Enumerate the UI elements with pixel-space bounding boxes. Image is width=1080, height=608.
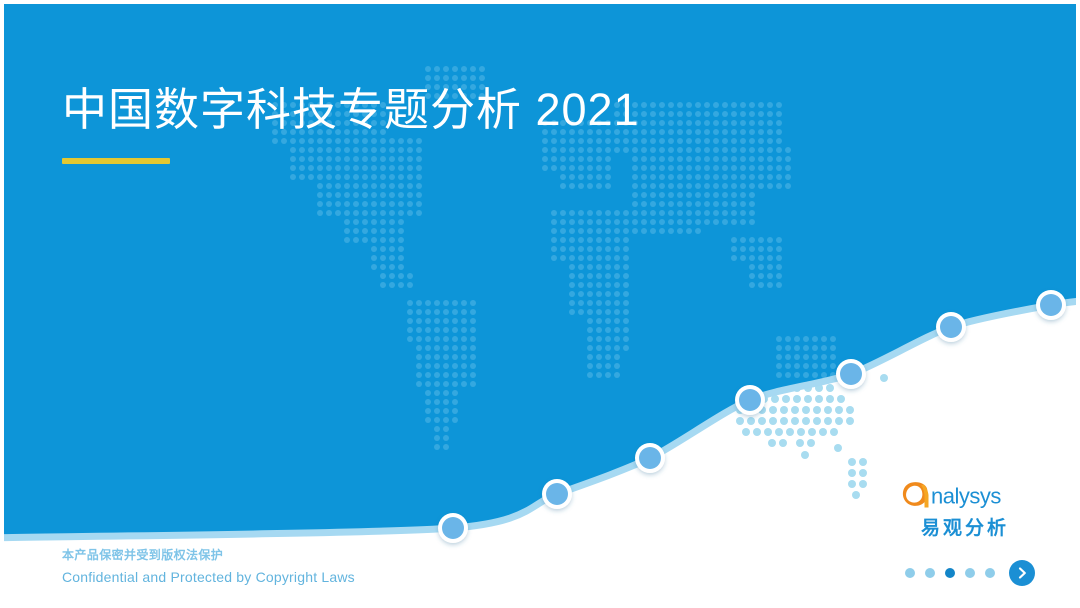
- analysys-logo: nalysys 易观分析: [900, 478, 1030, 540]
- analysys-wordmark-icon: nalysys: [900, 478, 1025, 512]
- analysys-logo-cn: 易观分析: [900, 513, 1030, 540]
- page-title: 中国数字科技专题分析 2021: [62, 82, 922, 138]
- pagination-dot-active[interactable]: [945, 568, 955, 578]
- pagination-dot[interactable]: [965, 568, 975, 578]
- title-accent-bar: [62, 158, 170, 164]
- title-block: 中国数字科技专题分析 2021: [62, 82, 922, 164]
- pagination[interactable]: [905, 560, 1035, 586]
- pagination-dot[interactable]: [905, 568, 915, 578]
- slide-root: 中国数字科技专题分析 2021 本产品保密并受到版权法保护 Confidenti…: [0, 0, 1080, 608]
- pagination-dot[interactable]: [925, 568, 935, 578]
- svg-text:nalysys: nalysys: [931, 484, 1001, 509]
- copyright-notice: 本产品保密并受到版权法保护 Confidential and Protected…: [62, 546, 355, 588]
- copyright-notice-cn: 本产品保密并受到版权法保护: [62, 546, 355, 564]
- copyright-notice-en: Confidential and Protected by Copyright …: [62, 567, 355, 588]
- next-slide-button[interactable]: [1009, 560, 1035, 586]
- pagination-dot[interactable]: [985, 568, 995, 578]
- chevron-right-icon: [1015, 566, 1029, 580]
